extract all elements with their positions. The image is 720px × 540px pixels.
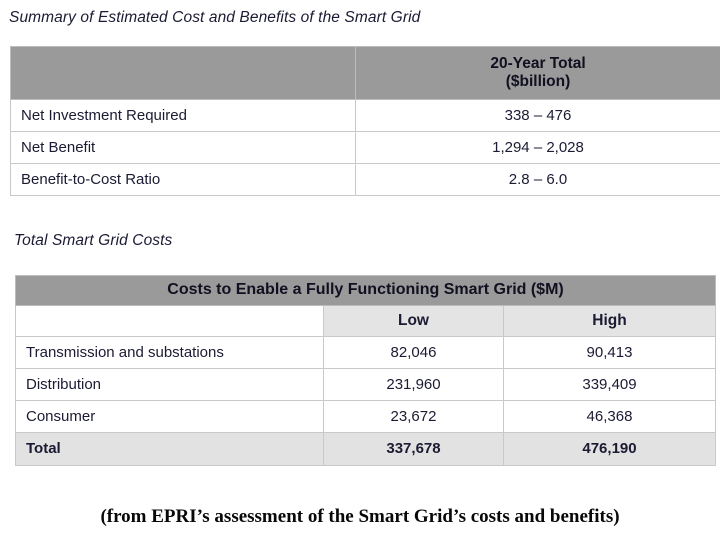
costs-section-heading: Total Smart Grid Costs xyxy=(14,232,172,250)
summary-table: 20-Year Total ($billion) Net Investment … xyxy=(10,46,720,196)
costs-total-low: 337,678 xyxy=(324,433,504,466)
table-row: Transmission and substations 82,046 90,4… xyxy=(16,337,716,369)
costs-table-head: Costs to Enable a Fully Functioning Smar… xyxy=(16,276,716,337)
summary-row-label: Benefit-to-Cost Ratio xyxy=(11,164,356,196)
costs-row-label: Transmission and substations xyxy=(16,337,324,369)
costs-column-header-row: Low High xyxy=(16,306,716,337)
costs-header-blank xyxy=(16,306,324,337)
costs-row-label: Distribution xyxy=(16,369,324,401)
table-row: Net Investment Required 338 – 476 xyxy=(11,100,720,132)
costs-row-low: 82,046 xyxy=(324,337,504,369)
summary-table-head: 20-Year Total ($billion) xyxy=(11,47,720,100)
costs-total-row: Total 337,678 476,190 xyxy=(16,433,716,466)
summary-row-value: 2.8 – 6.0 xyxy=(356,164,720,196)
summary-header-total-line2: ($billion) xyxy=(366,73,710,91)
summary-row-value: 338 – 476 xyxy=(356,100,720,132)
summary-section-heading: Summary of Estimated Cost and Benefits o… xyxy=(9,9,420,27)
costs-header-low: Low xyxy=(324,306,504,337)
table-row: Benefit-to-Cost Ratio 2.8 – 6.0 xyxy=(11,164,720,196)
summary-header-blank xyxy=(11,47,356,100)
costs-banner-title: Costs to Enable a Fully Functioning Smar… xyxy=(16,276,716,306)
figure-caption: (from EPRI’s assessment of the Smart Gri… xyxy=(0,506,720,528)
costs-table-body: Transmission and substations 82,046 90,4… xyxy=(16,337,716,466)
costs-row-label: Consumer xyxy=(16,401,324,433)
table-row: Consumer 23,672 46,368 xyxy=(16,401,716,433)
costs-total-label: Total xyxy=(16,433,324,466)
summary-row-label: Net Benefit xyxy=(11,132,356,164)
costs-row-low: 231,960 xyxy=(324,369,504,401)
costs-row-high: 90,413 xyxy=(504,337,716,369)
summary-header-total: 20-Year Total ($billion) xyxy=(356,47,720,100)
table-header-row: 20-Year Total ($billion) xyxy=(11,47,720,100)
costs-row-low: 23,672 xyxy=(324,401,504,433)
table-row: Distribution 231,960 339,409 xyxy=(16,369,716,401)
summary-header-total-line1: 20-Year Total xyxy=(490,55,585,72)
summary-row-value: 1,294 – 2,028 xyxy=(356,132,720,164)
summary-table-body: Net Investment Required 338 – 476 Net Be… xyxy=(11,100,720,196)
summary-row-label: Net Investment Required xyxy=(11,100,356,132)
costs-total-high: 476,190 xyxy=(504,433,716,466)
costs-header-high: High xyxy=(504,306,716,337)
costs-row-high: 339,409 xyxy=(504,369,716,401)
costs-table: Costs to Enable a Fully Functioning Smar… xyxy=(15,275,716,466)
costs-banner-row: Costs to Enable a Fully Functioning Smar… xyxy=(16,276,716,306)
table-row: Net Benefit 1,294 – 2,028 xyxy=(11,132,720,164)
costs-row-high: 46,368 xyxy=(504,401,716,433)
